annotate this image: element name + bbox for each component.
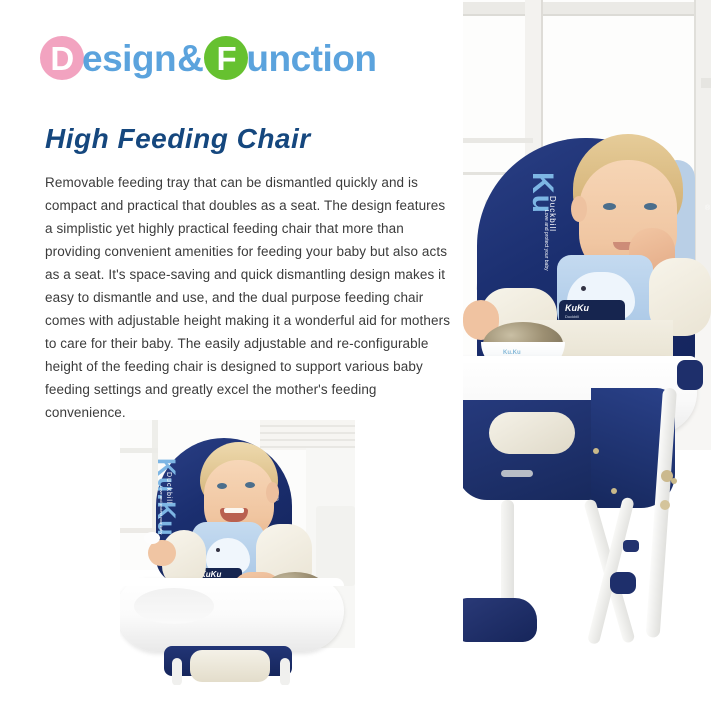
left-seat-brand-sub-label: Duckbill bbox=[165, 472, 172, 505]
chair-hinge-joint bbox=[610, 572, 636, 594]
window-frame-right-lower bbox=[701, 78, 711, 88]
baby-eye-left bbox=[603, 203, 616, 210]
bib-brand-tag-label: KuKu bbox=[565, 303, 589, 313]
left-feeding-tray-well bbox=[134, 588, 214, 624]
tray-clamp-right bbox=[677, 360, 703, 390]
window-frame-top-edge bbox=[463, 14, 711, 16]
baby-eye-right bbox=[644, 203, 657, 210]
product-photo-right: Ku Duckbill Love and protect your baby ®… bbox=[463, 0, 711, 648]
page-title: High Feeding Chair bbox=[45, 123, 311, 155]
logo-word-function: unction bbox=[246, 40, 376, 77]
bib-whale-eye-icon bbox=[581, 286, 586, 291]
photo-left-cabinet bbox=[316, 506, 355, 586]
logo-badge-d-icon: D bbox=[40, 36, 84, 80]
seat-brand-sub-label: Duckbill bbox=[548, 196, 557, 232]
brand-logo-design-function: D esign & F unction bbox=[40, 36, 376, 80]
left-chair-leg-a bbox=[172, 658, 182, 685]
left-baby-legs bbox=[190, 650, 270, 682]
product-detail-page: D esign & F unction High Feeding Chair R… bbox=[0, 0, 711, 725]
bib-brand-tag-sub: Duckbill bbox=[565, 314, 579, 319]
feeding-tray-edge-highlight bbox=[463, 356, 697, 363]
chair-hinge-joint-upper bbox=[623, 540, 639, 552]
baby-ear-left bbox=[571, 196, 587, 222]
chair-snap-button-2-icon bbox=[611, 488, 617, 494]
chair-foot-base bbox=[463, 598, 537, 642]
window-frame-top bbox=[463, 2, 711, 14]
chair-height-adjuster-icon bbox=[661, 470, 673, 482]
baby-foot-sock bbox=[489, 412, 575, 454]
seat-trademark-icon: ® bbox=[705, 205, 710, 212]
left-baby-spoon bbox=[144, 532, 160, 544]
left-baby-ear-right bbox=[266, 482, 279, 503]
logo-badge-f-icon: F bbox=[204, 36, 248, 80]
left-baby-eye-right bbox=[245, 482, 255, 488]
left-feeding-tray-rim bbox=[120, 578, 344, 586]
window-mullion-horizontal bbox=[463, 138, 533, 143]
chair-crotch-strap bbox=[501, 470, 533, 477]
left-baby-teeth bbox=[224, 508, 244, 513]
logo-ampersand: & bbox=[177, 40, 203, 77]
left-baby-eye-left bbox=[217, 483, 227, 489]
photo-left-window-rail bbox=[120, 448, 158, 453]
left-chair-leg-b bbox=[280, 658, 290, 685]
photo-left-blind-slats bbox=[260, 420, 355, 450]
left-bib-whale-eye-icon bbox=[216, 548, 220, 552]
chair-height-adjuster-icon-2 bbox=[660, 500, 670, 510]
logo-word-design: esign bbox=[82, 40, 176, 77]
product-description: Removable feeding tray that can be disma… bbox=[45, 171, 455, 424]
product-photo-left: Ku.Ku Duckbill Love and protect your bab… bbox=[120, 420, 355, 685]
chair-snap-button-1-icon bbox=[593, 448, 599, 454]
seat-brand-tagline: Love and protect your baby bbox=[543, 210, 549, 271]
left-seat-brand-tagline: Love and protect your baby bbox=[159, 486, 164, 534]
